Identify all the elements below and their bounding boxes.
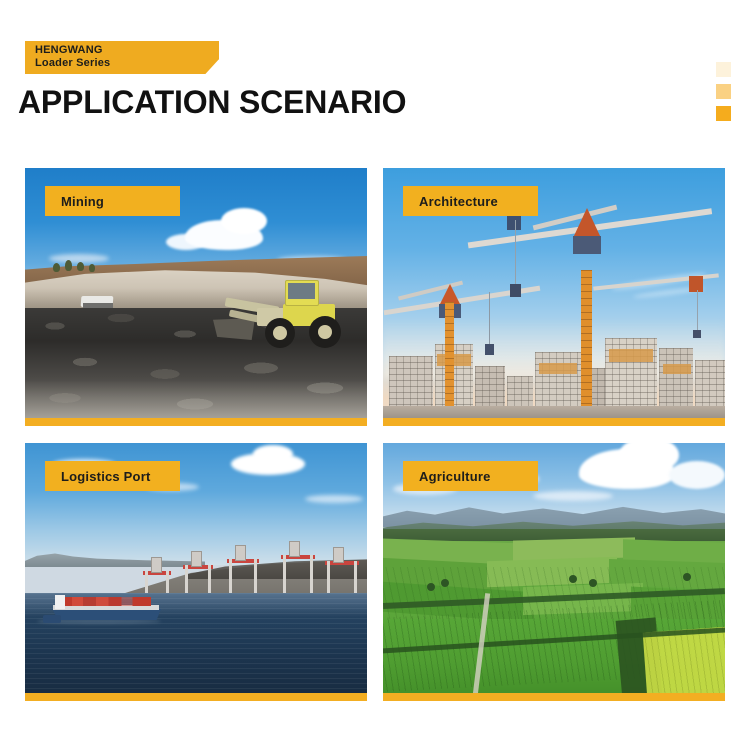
crane-hook-block — [693, 330, 701, 338]
card-label-text: Mining — [61, 194, 104, 209]
tree — [89, 264, 95, 272]
crane-hook-line — [697, 290, 698, 332]
tree — [77, 262, 84, 271]
card-label-text: Agriculture — [419, 469, 491, 484]
tower-crane-right — [593, 276, 725, 406]
tugboat — [43, 615, 61, 623]
card-bottom-bar — [383, 693, 725, 701]
card-bottom-bar — [25, 418, 367, 426]
page-title: APPLICATION SCENARIO — [18, 84, 406, 120]
construction-ground — [383, 406, 725, 418]
card-bottom-bar — [25, 693, 367, 701]
crane-cab — [573, 236, 601, 254]
decor-square-solid — [716, 106, 731, 121]
crane-hook-block — [510, 284, 521, 297]
tree — [53, 263, 60, 272]
crane-hook-line — [515, 220, 516, 286]
wheel-hub — [318, 325, 332, 339]
ship-bridge — [55, 595, 65, 609]
card-label-logistics-port: Logistics Port — [45, 461, 180, 491]
brand-tag: HENGWANG Loader Series — [25, 41, 219, 74]
tree — [589, 579, 597, 587]
crane-head — [151, 557, 162, 573]
truck-chassis — [83, 303, 113, 308]
scenario-card-logistics-port[interactable]: Logistics Port — [25, 443, 367, 701]
scenario-card-architecture[interactable]: Architecture — [383, 168, 725, 426]
tree — [427, 583, 435, 591]
scenario-card-agriculture[interactable]: Agriculture — [383, 443, 725, 701]
crane-hook-block — [485, 344, 494, 355]
dump-truck — [81, 294, 117, 310]
card-label-agriculture: Agriculture — [403, 461, 538, 491]
container-ship — [49, 595, 165, 621]
card-bottom-bar — [383, 418, 725, 426]
card-label-text: Architecture — [419, 194, 498, 209]
cloud — [221, 208, 267, 234]
loader-window — [288, 283, 315, 299]
wheel-hub — [273, 326, 287, 340]
decor-square-light — [716, 62, 731, 77]
crane-head — [333, 547, 344, 563]
crane-head — [191, 551, 202, 567]
crane-trolley — [507, 214, 521, 230]
shipping-containers — [59, 597, 151, 606]
brand-series: Loader Series — [35, 57, 110, 70]
card-label-text: Logistics Port — [61, 469, 150, 484]
crane-head — [235, 545, 246, 561]
tree — [441, 579, 449, 587]
scenario-card-mining[interactable]: Mining — [25, 168, 367, 426]
decor-square-medium — [716, 84, 731, 99]
crane-hook-line — [489, 292, 490, 346]
tree — [569, 575, 577, 583]
loader-bucket — [213, 318, 255, 340]
crane-head — [689, 276, 703, 292]
cloud — [669, 461, 725, 489]
tree — [683, 573, 691, 581]
page-header: HENGWANG Loader Series APPLICATION SCENA… — [0, 0, 750, 150]
coal-highlight — [25, 380, 367, 418]
ship-hull — [49, 609, 161, 620]
cloud-wisp — [305, 495, 363, 503]
crane-head — [289, 541, 300, 557]
wheel-loader — [213, 280, 341, 350]
tree — [65, 260, 72, 271]
crane-mast — [581, 270, 592, 418]
card-label-mining: Mining — [45, 186, 180, 216]
cloud-wisp — [533, 491, 613, 501]
cloud — [253, 445, 293, 463]
card-label-architecture: Architecture — [403, 186, 538, 216]
crane-mast — [445, 302, 454, 418]
brand-name: HENGWANG — [35, 44, 103, 57]
